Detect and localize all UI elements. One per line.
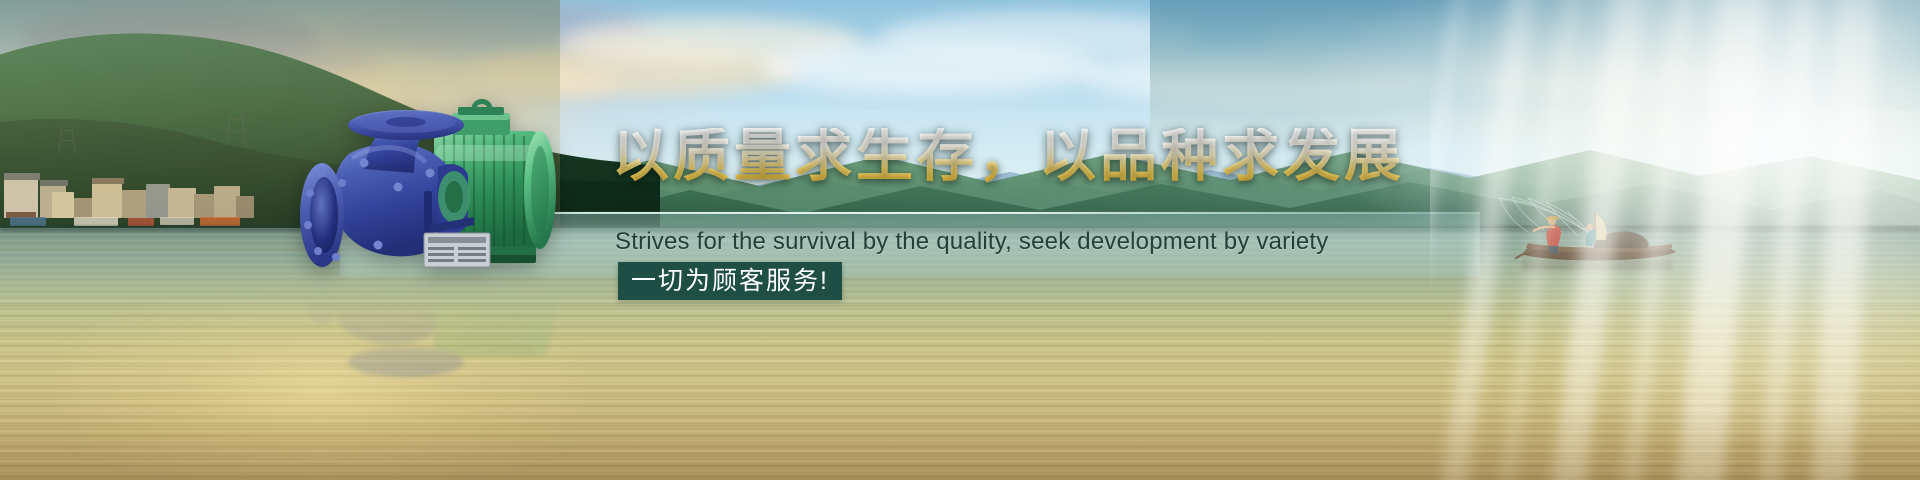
fisherman-boat — [1498, 196, 1708, 276]
boat-reflection — [1522, 248, 1672, 270]
subtitle-slogan-english: Strives for the survival by the quality,… — [615, 228, 1328, 256]
headline-slogan: 以质量求生存，以品种求发展 — [612, 128, 1405, 185]
service-badge: 一切为顾客服务! — [618, 262, 842, 300]
pump-reflection — [238, 296, 578, 392]
centrifugal-pump-product-image — [238, 95, 578, 300]
promo-banner: 以质量求生存，以品种求发展 Strives for the survival b… — [0, 0, 1920, 480]
service-badge-label: 一切为顾客服务! — [631, 269, 829, 294]
pump-nameplate — [424, 233, 490, 267]
